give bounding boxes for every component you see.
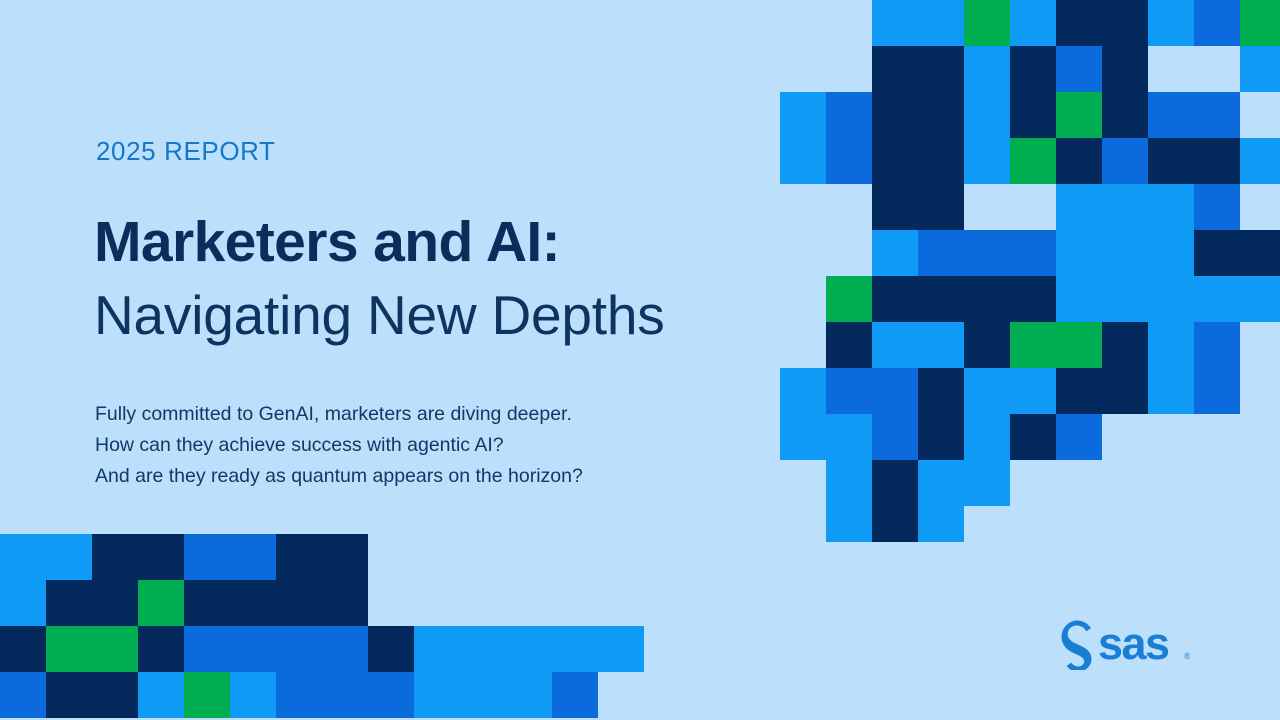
pattern-tile [964, 92, 1010, 138]
pattern-tile [826, 460, 872, 506]
pattern-tile [918, 230, 964, 276]
pattern-tile [230, 626, 276, 672]
pattern-tile [322, 626, 368, 672]
pattern-tile [1010, 184, 1056, 230]
pattern-tile [368, 672, 414, 718]
pattern-tile [1148, 230, 1194, 276]
intro-line-3: And are they ready as quantum appears on… [95, 461, 583, 492]
pattern-tile [1010, 92, 1056, 138]
pattern-tile [0, 672, 46, 718]
pattern-tile [964, 46, 1010, 92]
pattern-tile [1102, 368, 1148, 414]
pattern-tile [918, 322, 964, 368]
pattern-tile [1056, 138, 1102, 184]
pattern-tile [826, 322, 872, 368]
pattern-tile [964, 138, 1010, 184]
pattern-tile [92, 580, 138, 626]
geometric-pattern-bottom-left [0, 534, 648, 720]
pattern-tile [1194, 230, 1240, 276]
pattern-tile [1056, 322, 1102, 368]
pattern-tile [1010, 368, 1056, 414]
pattern-tile [276, 534, 322, 580]
pattern-tile [1102, 276, 1148, 322]
pattern-tile [1010, 276, 1056, 322]
pattern-tile [1194, 276, 1240, 322]
pattern-tile [1102, 92, 1148, 138]
pattern-tile [826, 414, 872, 460]
pattern-tile [1102, 138, 1148, 184]
pattern-tile [184, 534, 230, 580]
pattern-tile [780, 368, 826, 414]
pattern-tile [918, 460, 964, 506]
sas-wordmark: sas [1098, 618, 1169, 669]
pattern-tile [918, 506, 964, 542]
pattern-tile [1056, 414, 1102, 460]
pattern-tile [1240, 46, 1280, 92]
pattern-tile [276, 626, 322, 672]
pattern-tile [872, 414, 918, 460]
registered-trademark-icon: ® [1184, 651, 1190, 661]
pattern-tile [506, 626, 552, 672]
pattern-tile [1148, 46, 1194, 92]
pattern-tile [964, 276, 1010, 322]
pattern-tile [322, 580, 368, 626]
pattern-tile [1194, 46, 1240, 92]
pattern-tile [872, 276, 918, 322]
pattern-tile [276, 580, 322, 626]
intro-line-1: Fully committed to GenAI, marketers are … [95, 399, 583, 430]
pattern-tile [872, 230, 918, 276]
pattern-tile [46, 580, 92, 626]
pattern-tile [1194, 138, 1240, 184]
pattern-tile [276, 672, 322, 718]
pattern-tile [964, 230, 1010, 276]
pattern-tile [138, 626, 184, 672]
pattern-tile [1240, 92, 1280, 138]
pattern-tile [1102, 0, 1148, 46]
pattern-tile [1056, 92, 1102, 138]
pattern-tile [1148, 276, 1194, 322]
intro-line-2: How can they achieve success with agenti… [95, 430, 583, 461]
pattern-tile [1010, 46, 1056, 92]
pattern-tile [322, 534, 368, 580]
pattern-tile [138, 534, 184, 580]
pattern-tile [826, 368, 872, 414]
pattern-tile [1194, 322, 1240, 368]
sas-logo: sas ® [1058, 618, 1190, 670]
pattern-tile [872, 506, 918, 542]
pattern-tile [918, 0, 964, 46]
pattern-tile [1010, 138, 1056, 184]
pattern-tile [1102, 46, 1148, 92]
pattern-tile [414, 626, 460, 672]
pattern-tile [92, 672, 138, 718]
pattern-tile [872, 46, 918, 92]
pattern-tile [918, 138, 964, 184]
pattern-tile [46, 626, 92, 672]
pattern-tile [1194, 92, 1240, 138]
pattern-tile [1148, 322, 1194, 368]
pattern-tile [826, 276, 872, 322]
pattern-tile [1240, 138, 1280, 184]
pattern-tile [0, 626, 46, 672]
pattern-tile [46, 534, 92, 580]
pattern-tile [230, 580, 276, 626]
pattern-tile [918, 46, 964, 92]
pattern-tile [964, 368, 1010, 414]
pattern-tile [1240, 230, 1280, 276]
pattern-tile [780, 92, 826, 138]
pattern-tile [826, 92, 872, 138]
pattern-tile [552, 672, 598, 718]
pattern-tile [918, 276, 964, 322]
pattern-tile [138, 580, 184, 626]
pattern-tile [92, 534, 138, 580]
pattern-tile [460, 672, 506, 718]
pattern-tile [552, 626, 598, 672]
report-cover: 2025 REPORT Marketers and AI: Navigating… [0, 0, 1280, 720]
pattern-tile [1102, 322, 1148, 368]
pattern-tile [918, 368, 964, 414]
pattern-tile [184, 672, 230, 718]
pattern-tile [1148, 368, 1194, 414]
pattern-tile [230, 672, 276, 718]
pattern-tile [138, 672, 184, 718]
pattern-tile [1240, 0, 1280, 46]
intro-paragraph: Fully committed to GenAI, marketers are … [95, 399, 583, 492]
pattern-tile [506, 672, 552, 718]
pattern-tile [0, 580, 46, 626]
pattern-tile [1056, 46, 1102, 92]
pattern-tile [92, 626, 138, 672]
pattern-tile [414, 672, 460, 718]
pattern-tile [1240, 184, 1280, 230]
pattern-tile [1148, 138, 1194, 184]
pattern-tile [780, 138, 826, 184]
pattern-tile [1102, 230, 1148, 276]
pattern-tile [964, 184, 1010, 230]
eyebrow-label: 2025 REPORT [96, 136, 276, 167]
pattern-tile [872, 138, 918, 184]
pattern-tile [826, 138, 872, 184]
pattern-tile [368, 626, 414, 672]
pattern-tile [1102, 184, 1148, 230]
pattern-tile [964, 414, 1010, 460]
pattern-tile [46, 672, 92, 718]
pattern-tile [1148, 0, 1194, 46]
pattern-tile [1194, 0, 1240, 46]
pattern-tile [460, 626, 506, 672]
pattern-tile [872, 92, 918, 138]
pattern-tile [184, 626, 230, 672]
pattern-tile [918, 414, 964, 460]
geometric-pattern-top-right [734, 0, 1280, 542]
sas-swirl-mark [1062, 620, 1092, 670]
swirl-path [1062, 620, 1092, 670]
page-subtitle: Navigating New Depths [94, 288, 665, 343]
pattern-tile [918, 92, 964, 138]
pattern-tile [1056, 184, 1102, 230]
pattern-tile [1056, 276, 1102, 322]
pattern-tile [1010, 0, 1056, 46]
pattern-tile [598, 626, 644, 672]
pattern-tile [1240, 276, 1280, 322]
pattern-tile [1056, 230, 1102, 276]
pattern-tile [872, 460, 918, 506]
pattern-tile [1148, 92, 1194, 138]
pattern-tile [872, 184, 918, 230]
pattern-tile [1010, 414, 1056, 460]
pattern-tile [964, 322, 1010, 368]
pattern-tile [964, 460, 1010, 506]
pattern-tile [230, 534, 276, 580]
pattern-tile [1010, 322, 1056, 368]
pattern-tile [872, 0, 918, 46]
pattern-tile [918, 184, 964, 230]
pattern-tile [826, 506, 872, 542]
pattern-tile [1194, 184, 1240, 230]
page-title: Marketers and AI: [94, 214, 560, 271]
pattern-tile [872, 322, 918, 368]
pattern-tile [184, 580, 230, 626]
pattern-tile [1148, 184, 1194, 230]
pattern-tile [872, 368, 918, 414]
pattern-tile [964, 0, 1010, 46]
pattern-tile [780, 414, 826, 460]
pattern-tile [1056, 0, 1102, 46]
pattern-tile [1056, 368, 1102, 414]
pattern-tile [1010, 230, 1056, 276]
pattern-tile [1194, 368, 1240, 414]
pattern-tile [0, 534, 46, 580]
pattern-tile [322, 672, 368, 718]
